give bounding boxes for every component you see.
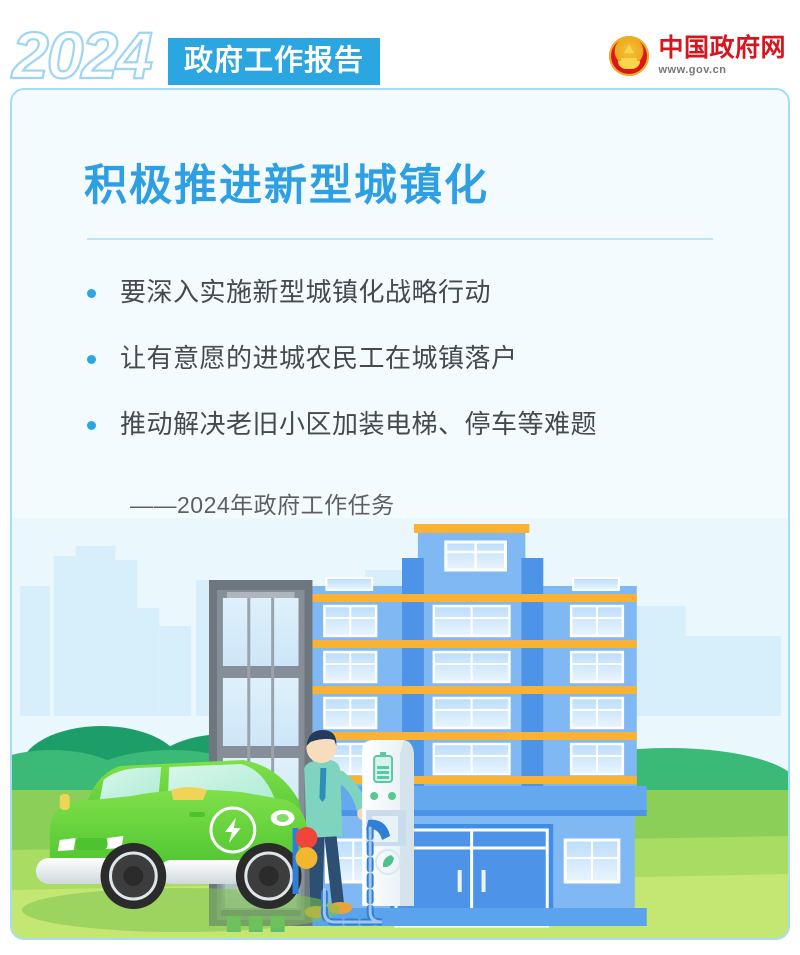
illustration-scene xyxy=(12,518,788,938)
bullet-text: 推动解决老旧小区加装电梯、停车等难题 xyxy=(120,408,597,442)
bullet-text: 让有意愿的进城农民工在城镇落户 xyxy=(120,342,518,376)
infographic-page: 2024 政府工作报告 中国政府网 www.gov.cn xyxy=(0,0,800,955)
report-banner-label: 政府工作报告 xyxy=(184,47,364,76)
emblem-bar xyxy=(621,58,637,61)
apartment-building xyxy=(299,524,647,926)
list-item: 让有意愿的进城农民工在城镇落户 xyxy=(87,342,747,376)
bullet-dot-icon xyxy=(87,421,96,430)
logo-site-url: www.gov.cn xyxy=(658,65,786,76)
bullet-list: 要深入实施新型城镇化战略行动 让有意愿的进城农民工在城镇落户 推动解决老旧小区加… xyxy=(87,276,747,473)
logo-text-block: 中国政府网 www.gov.cn xyxy=(658,36,786,76)
year-2024-outline: 2024 xyxy=(12,22,151,88)
title-divider xyxy=(87,238,713,240)
report-banner: 政府工作报告 xyxy=(168,38,380,85)
source-attribution: ——2024年政府工作任务 xyxy=(130,486,395,520)
china-national-emblem-icon xyxy=(609,36,649,76)
list-item: 推动解决老旧小区加装电梯、停车等难题 xyxy=(87,408,747,442)
bullet-text: 要深入实施新型城镇化战略行动 xyxy=(120,276,491,310)
content-panel: 积极推进新型城镇化 要深入实施新型城镇化战略行动 让有意愿的进城农民工在城镇落户… xyxy=(10,88,790,940)
bullet-dot-icon xyxy=(87,289,96,298)
gov-logo[interactable]: 中国政府网 www.gov.cn xyxy=(609,36,786,76)
logo-site-name: 中国政府网 xyxy=(658,36,786,61)
list-item: 要深入实施新型城镇化战略行动 xyxy=(87,276,747,310)
page-title: 积极推进新型城镇化 xyxy=(84,165,489,208)
page-header: 2024 政府工作报告 中国政府网 www.gov.cn xyxy=(0,0,800,95)
bullet-dot-icon xyxy=(87,355,96,364)
